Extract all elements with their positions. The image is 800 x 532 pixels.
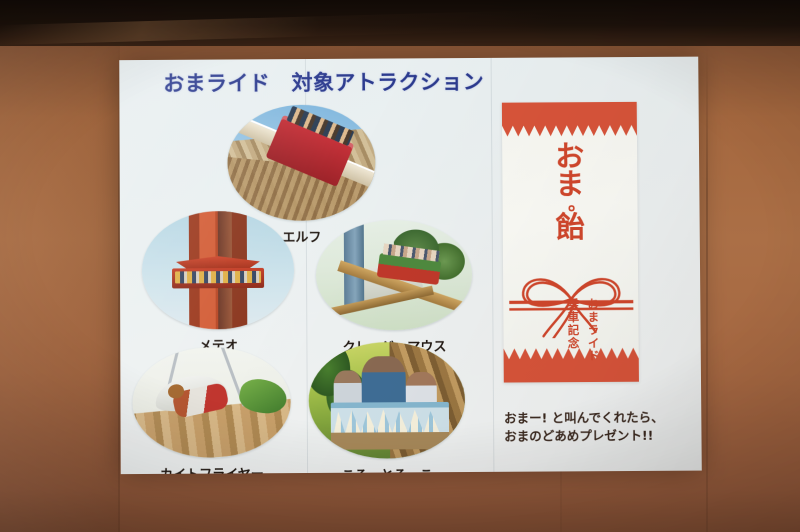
attraction-card-meteo[interactable]: メテオ [142,211,295,330]
attraction-photo-crazy-mouse [316,220,473,331]
attraction-card-kite-flyer[interactable]: カイトフライヤー [132,347,291,458]
wrapper-title-char-1: お [555,142,584,171]
candy-wrapper-graphic: お ま 。 飴 [502,102,639,383]
wall-panel-left [0,46,120,532]
wrapper-vertical-text-right: おまライド [585,298,602,363]
caption-line-2: おまのどあめプレゼント!! [504,426,694,445]
ceiling-dark-band [0,0,800,46]
attraction-label-kite-flyer: カイトフライヤー [133,463,291,474]
wrapper-title: お ま 。 飴 [502,142,638,242]
attraction-card-korotto-rokko[interactable]: ころっとろっこ [308,342,465,459]
page-title: おまライド 対象アトラクション [163,66,484,98]
slide-canvas: おまライド 対象アトラクション エルフ [119,57,702,475]
attraction-photo-elf [227,104,375,221]
attraction-photo-kite-flyer [132,347,291,458]
slide-caption: おまー! と叫んでくれたら、 おまのどあめプレゼント!! [504,408,695,445]
attraction-photo-korotto-rokko [308,342,465,459]
attraction-photo-meteo [142,211,295,330]
slide-crease-right [491,58,495,472]
attraction-card-elf[interactable]: エルフ [227,104,375,221]
wrapper-title-char-4: 飴 [556,213,585,242]
screenshot-stage: おまライド 対象アトラクション エルフ [0,0,800,532]
wall-seam-right [706,46,708,532]
projected-slide: おまライド 対象アトラクション エルフ [119,57,702,475]
caption-line-1: おまー! と叫んでくれたら、 [504,408,694,427]
attraction-card-crazy-mouse[interactable]: クレージーマウス [316,220,473,331]
wrapper-vertical-text-left: 乗車記念 [565,298,581,350]
